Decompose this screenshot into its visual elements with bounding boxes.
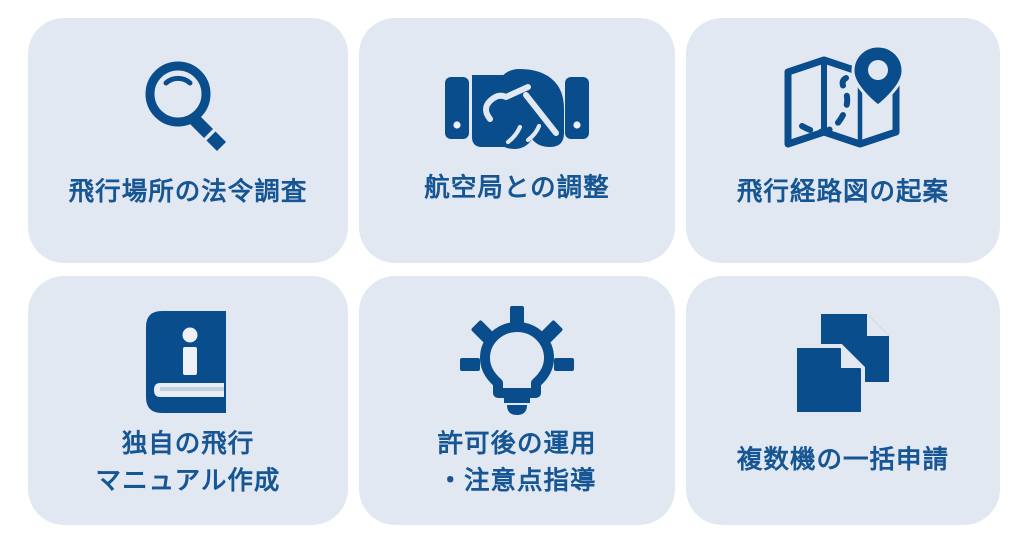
info-book-icon — [28, 276, 348, 426]
lightbulb-icon — [359, 276, 675, 426]
feature-card-label: 許可後の運用 ・注意点指導 — [359, 426, 675, 499]
documents-icon — [686, 276, 1000, 426]
feature-card-civil-aviation-bureau-coordination[interactable]: 航空局との調整 — [359, 18, 675, 263]
feature-card-label: 飛行経路図の起案 — [686, 168, 1000, 210]
service-feature-grid: 飛行場所の法令調査 — [0, 0, 1028, 544]
feature-card-flight-route-map-drafting[interactable]: 飛行経路図の起案 — [686, 18, 1000, 263]
feature-card-original-flight-manual-creation[interactable]: 独自の飛行 マニュアル作成 — [28, 276, 348, 525]
feature-card-label: 航空局との調整 — [359, 168, 675, 206]
magnifier-icon — [28, 18, 348, 168]
feature-card-label: 飛行場所の法令調査 — [28, 168, 348, 210]
feature-card-post-approval-operation-guidance[interactable]: 許可後の運用 ・注意点指導 — [359, 276, 675, 525]
feature-card-flight-site-legal-research[interactable]: 飛行場所の法令調査 — [28, 18, 348, 263]
feature-card-multiple-aircraft-bulk-application[interactable]: 複数機の一括申請 — [686, 276, 1000, 525]
map-pin-icon — [686, 18, 1000, 168]
feature-card-label: 複数機の一括申請 — [686, 426, 1000, 478]
handshake-icon — [359, 18, 675, 168]
feature-card-label: 独自の飛行 マニュアル作成 — [28, 426, 348, 499]
